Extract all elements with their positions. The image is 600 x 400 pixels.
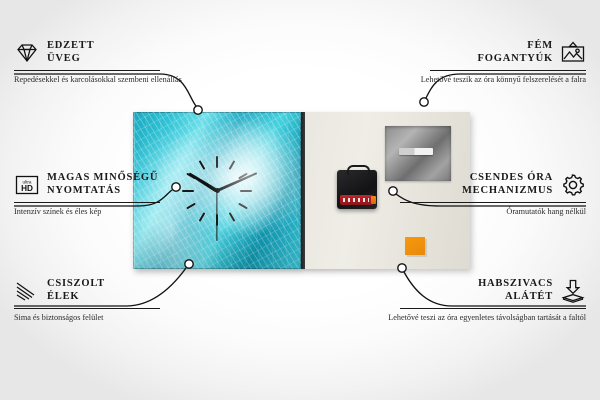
gear-icon <box>560 172 586 198</box>
callout-polished-edges: CSISZOLT ÉLEK Sima és biztonságos felüle… <box>14 278 230 324</box>
callout-tempered-glass: EDZETT ÜVEG Repedésekkel és karcolásokka… <box>14 40 230 86</box>
polished-edge-icon <box>14 278 40 304</box>
callout-header: FÉM FOGANTYÚK <box>370 40 586 66</box>
picture-hanger-icon <box>560 40 586 66</box>
callout-foam-pad: HABSZIVACS ALÁTÉT Lehetővé teszi az óra … <box>370 278 586 324</box>
callout-metal-handles: FÉM FOGANTYÚK Lehetővé teszik az óra kön… <box>370 40 586 86</box>
callout-title: CSENDES ÓRA MECHANIZMUS <box>462 172 553 198</box>
foam-pad <box>405 237 425 255</box>
callout-rule <box>400 202 586 203</box>
callout-high-quality-print: ultra HD MAGAS MINŐSÉGŰ NYOMTATÁS Intenz… <box>14 172 230 218</box>
callout-header: CSISZOLT ÉLEK <box>14 278 230 304</box>
callout-rule <box>14 308 160 309</box>
callout-rule <box>400 308 586 309</box>
callout-title: FÉM FOGANTYÚK <box>478 40 553 66</box>
callout-header: CSENDES ÓRA MECHANIZMUS <box>370 172 586 198</box>
callout-description: Lehetővé teszik az óra könnyű felszerelé… <box>370 75 586 86</box>
callout-description: Sima és biztonságos felület <box>14 313 230 324</box>
callout-rule <box>430 70 586 71</box>
battery <box>340 195 373 205</box>
callout-header: ultra HD MAGAS MINŐSÉGŰ NYOMTATÁS <box>14 172 230 198</box>
callout-title: EDZETT ÜVEG <box>47 40 94 66</box>
callout-description: Lehetővé teszi az óra egyenletes távolsá… <box>370 313 586 324</box>
callout-silent-mechanism: CSENDES ÓRA MECHANIZMUS Óramutatók hang … <box>370 172 586 218</box>
callout-description: Intenzív színek és éles kép <box>14 207 230 218</box>
callout-title: CSISZOLT ÉLEK <box>47 278 105 304</box>
ultra-hd-icon: ultra HD <box>14 172 40 198</box>
callout-description: Repedésekkel és karcolásokkal szembeni e… <box>14 75 230 86</box>
mechanism-hanger-loop <box>347 165 370 175</box>
svg-text:HD: HD <box>21 184 33 193</box>
callout-title: HABSZIVACS ALÁTÉT <box>478 278 553 304</box>
callout-rule <box>14 202 160 203</box>
callout-rule <box>14 70 160 71</box>
callout-description: Óramutatók hang nélkül <box>370 207 586 218</box>
callout-header: HABSZIVACS ALÁTÉT <box>370 278 586 304</box>
foam-pad-icon <box>560 278 586 304</box>
callout-header: EDZETT ÜVEG <box>14 40 230 66</box>
infographic-canvas: EDZETT ÜVEG Repedésekkel és karcolásokka… <box>0 0 600 400</box>
callout-title: MAGAS MINŐSÉGŰ NYOMTATÁS <box>47 172 158 198</box>
diamond-icon <box>14 40 40 66</box>
